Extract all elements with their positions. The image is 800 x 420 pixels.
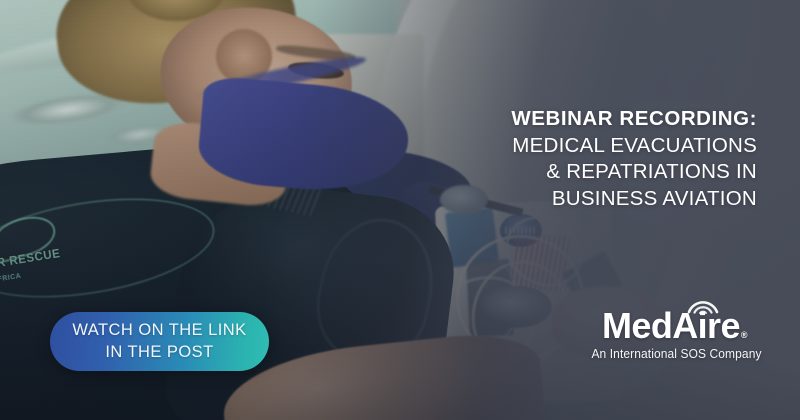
registered-trademark-icon: ® xyxy=(741,330,747,340)
cta-label-line-1: WATCH ON THE LINK xyxy=(72,320,246,341)
cta-button-label: WATCH ON THE LINK IN THE POST xyxy=(72,320,246,362)
social-media-promo-card: AIR RESCUE AFRICA WEBINAR RECORDING: MED… xyxy=(0,0,800,420)
headline-line-1: WEBINAR RECORDING: xyxy=(511,106,757,133)
headline-line-2: MEDICAL EVACUATIONS xyxy=(511,133,757,160)
headline-line-4: BUSINESS AVIATION xyxy=(511,186,757,213)
headline-block: WEBINAR RECORDING: MEDICAL EVACUATIONS &… xyxy=(511,106,757,213)
headline-line-3: & REPATRIATIONS IN xyxy=(511,159,757,186)
medaire-wordmark-text: MedAire xyxy=(602,305,740,346)
medaire-wordmark: MedAire® xyxy=(602,308,746,344)
cta-label-line-2: IN THE POST xyxy=(72,342,246,363)
watch-on-link-button[interactable]: WATCH ON THE LINK IN THE POST xyxy=(50,312,269,371)
medaire-tagline: An International SOS Company xyxy=(591,347,756,361)
medaire-logo: MedAire® An International SOS Company xyxy=(588,308,760,361)
